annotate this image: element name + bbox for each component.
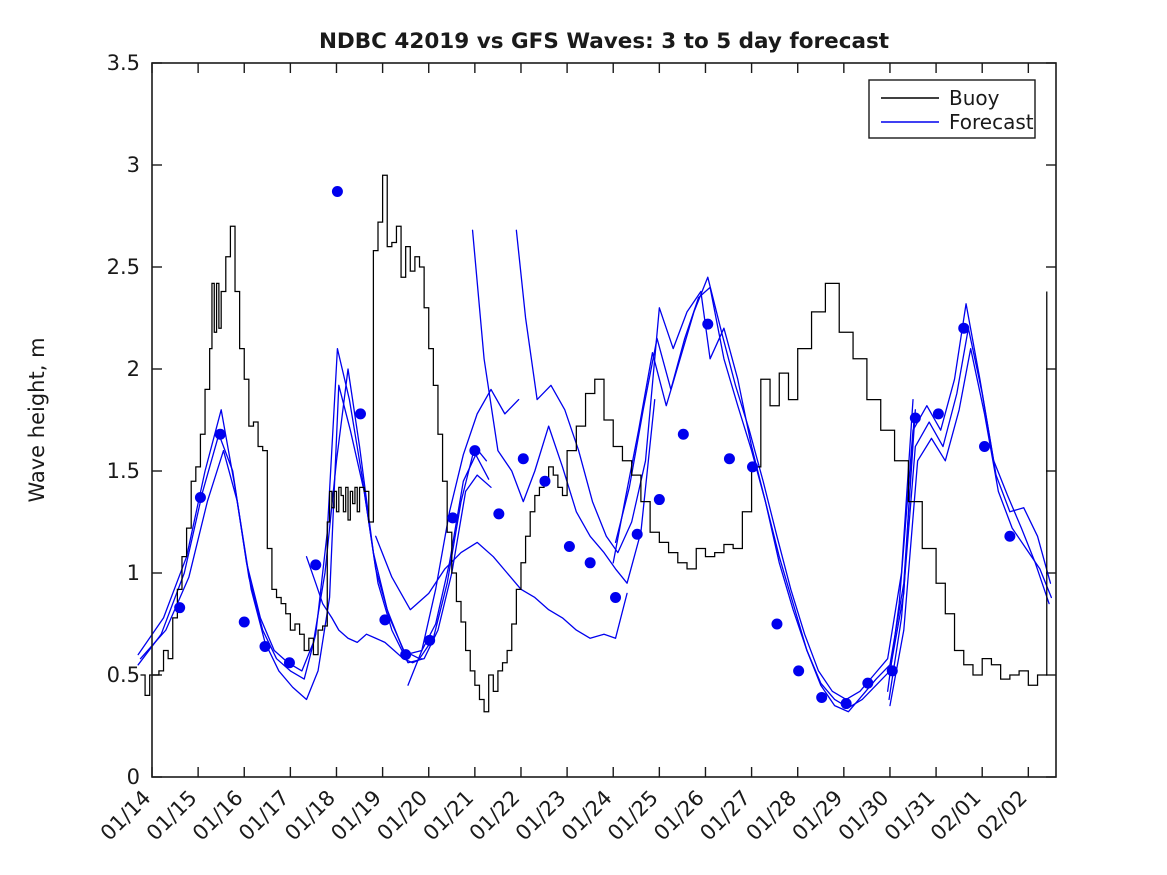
forecast-marker-point xyxy=(910,412,921,423)
forecast-marker-point xyxy=(174,602,185,613)
legend-label-forecast: Forecast xyxy=(949,110,1034,134)
forecast-marker-point xyxy=(841,698,852,709)
forecast-marker-point xyxy=(424,635,435,646)
forecast-marker-point xyxy=(724,453,735,464)
wave-height-chart: NDBC 42019 vs GFS Waves: 3 to 5 day fore… xyxy=(0,0,1167,875)
forecast-marker-point xyxy=(215,429,226,440)
forecast-marker-point xyxy=(284,657,295,668)
forecast-marker-point xyxy=(310,559,321,570)
forecast-marker-point xyxy=(862,678,873,689)
forecast-marker-point xyxy=(887,665,898,676)
forecast-marker-point xyxy=(747,461,758,472)
forecast-marker-point xyxy=(654,494,665,505)
forecast-marker-point xyxy=(585,557,596,568)
y-tick-label: 2 xyxy=(127,357,140,381)
forecast-marker-point xyxy=(239,616,250,627)
forecast-marker-point xyxy=(518,453,529,464)
chart-legend: Buoy Forecast xyxy=(869,80,1035,138)
forecast-marker-point xyxy=(195,492,206,503)
forecast-marker-point xyxy=(539,476,550,487)
y-tick-label: 3 xyxy=(127,153,140,177)
forecast-marker-point xyxy=(702,319,713,330)
y-tick-label: 2.5 xyxy=(107,255,140,279)
y-tick-label: 1 xyxy=(127,561,140,585)
y-tick-label: 0.5 xyxy=(107,663,140,687)
y-axis-label: Wave height, m xyxy=(25,337,49,502)
y-tick-label: 3.5 xyxy=(107,51,140,75)
forecast-marker-point xyxy=(933,408,944,419)
forecast-marker-point xyxy=(793,665,804,676)
forecast-marker-point xyxy=(771,619,782,630)
y-tick-label: 1.5 xyxy=(107,459,140,483)
forecast-marker-point xyxy=(493,508,504,519)
forecast-marker-point xyxy=(816,692,827,703)
forecast-marker-point xyxy=(379,614,390,625)
forecast-marker-point xyxy=(332,186,343,197)
chart-figure: NDBC 42019 vs GFS Waves: 3 to 5 day fore… xyxy=(0,0,1167,875)
forecast-marker-point xyxy=(564,541,575,552)
forecast-marker-point xyxy=(678,429,689,440)
forecast-marker-point xyxy=(260,641,271,652)
forecast-marker-point xyxy=(469,445,480,456)
forecast-marker-point xyxy=(355,408,366,419)
legend-label-buoy: Buoy xyxy=(949,86,1000,110)
page-title: NDBC 42019 vs GFS Waves: 3 to 5 day fore… xyxy=(319,29,889,54)
forecast-marker-point xyxy=(958,323,969,334)
forecast-marker-point xyxy=(632,529,643,540)
forecast-marker-point xyxy=(610,592,621,603)
forecast-marker-point xyxy=(400,649,411,660)
forecast-marker-point xyxy=(447,512,458,523)
forecast-marker-point xyxy=(979,441,990,452)
forecast-marker-point xyxy=(1004,531,1015,542)
